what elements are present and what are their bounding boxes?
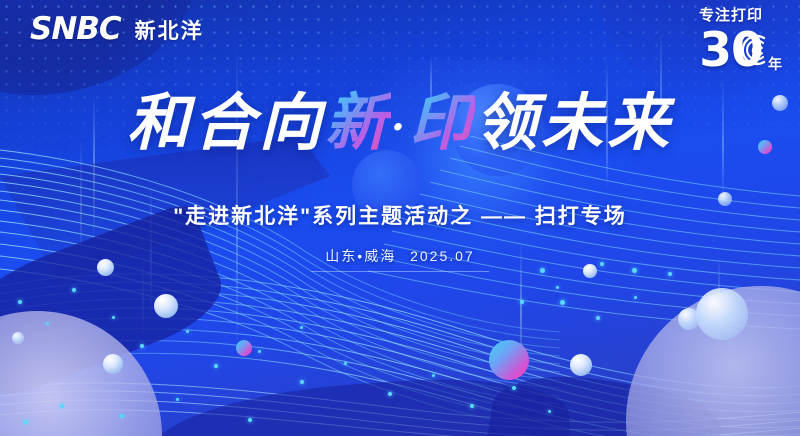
sphere-decoration <box>103 354 123 374</box>
sparkle-dot <box>388 392 392 396</box>
anniversary-unit: 年 <box>768 54 782 74</box>
lavender-circle-right <box>626 286 800 436</box>
navy-wedge-right <box>484 364 726 436</box>
swirl-icon <box>734 32 770 68</box>
brand-name-cn: 新北洋 <box>135 15 204 45</box>
sparkle-dot <box>120 414 124 418</box>
event-location: 山东•威海 <box>325 248 396 264</box>
sparkle-dot <box>258 350 261 353</box>
sparkle-dot <box>560 300 565 305</box>
hero-title-wrap: 和合向新·印领未来 <box>0 92 800 154</box>
event-meta: 山东•威海 2025.07 <box>311 246 488 272</box>
sparkle-dot <box>24 420 28 424</box>
title-part: 和合向 <box>127 86 325 159</box>
lavender-circle-left <box>0 311 162 436</box>
sphere-decoration <box>696 288 748 340</box>
sparkle-dot <box>548 410 551 413</box>
title-part-accent: 新 <box>325 86 391 159</box>
sparkle-dot <box>556 286 559 289</box>
navy-wedge-bottom <box>147 369 574 436</box>
sparkle-dot <box>46 322 49 325</box>
navy-wedge-left <box>0 200 233 405</box>
meta-spacer <box>400 248 406 264</box>
sparkle-dot <box>140 344 144 348</box>
sparkle-dot <box>344 362 347 365</box>
sparkle-dot <box>60 404 64 408</box>
title-part-accent: 印 <box>409 86 475 159</box>
sphere-decoration <box>570 354 592 376</box>
sparkle-dot <box>634 296 637 299</box>
event-meta-wrap: 山东•威海 2025.07 <box>0 246 800 272</box>
brand-logo[interactable]: SNBC 新北洋 <box>30 14 204 45</box>
sphere-decoration <box>12 332 24 344</box>
sparkle-dot <box>300 326 303 329</box>
sparkle-dot <box>112 316 115 319</box>
sparkle-dot <box>18 300 22 304</box>
wave-mesh <box>0 136 800 436</box>
event-date: 2025.07 <box>410 248 475 264</box>
sparkle-dot <box>72 288 76 292</box>
sparkle-dot <box>520 300 524 304</box>
sphere-gradient <box>489 340 529 380</box>
sparkle-dot <box>668 272 672 276</box>
hero-subtitle: "走进新北洋"系列主题活动之 —— 扫打专场 <box>0 200 800 230</box>
sparkle-dot <box>470 404 474 408</box>
sparkle-dot <box>512 386 516 390</box>
sphere-decoration <box>678 308 700 330</box>
snbc-logotype: SNBC <box>30 14 121 45</box>
title-separator: · <box>391 104 409 151</box>
sparkle-dot <box>300 380 304 384</box>
sparkle-dot <box>596 316 600 320</box>
event-banner: SNBC 新北洋 专注打印 30 年 和合向新·印领未来 "走进新北洋"系列主题… <box>0 0 800 436</box>
title-part: 领未来 <box>475 86 673 159</box>
anniversary-number-group: 30 年 <box>676 26 786 76</box>
page-title: 和合向新·印领未来 <box>127 92 673 154</box>
sparkle-dot <box>248 418 252 422</box>
anniversary-badge: 专注打印 30 年 <box>676 8 786 76</box>
sparkle-dot <box>432 374 435 377</box>
sphere-decoration <box>154 294 178 318</box>
sparkle-dot <box>214 364 218 368</box>
sparkle-dot <box>186 330 189 333</box>
sphere-gradient <box>236 340 252 356</box>
sparkle-dot <box>176 398 179 401</box>
